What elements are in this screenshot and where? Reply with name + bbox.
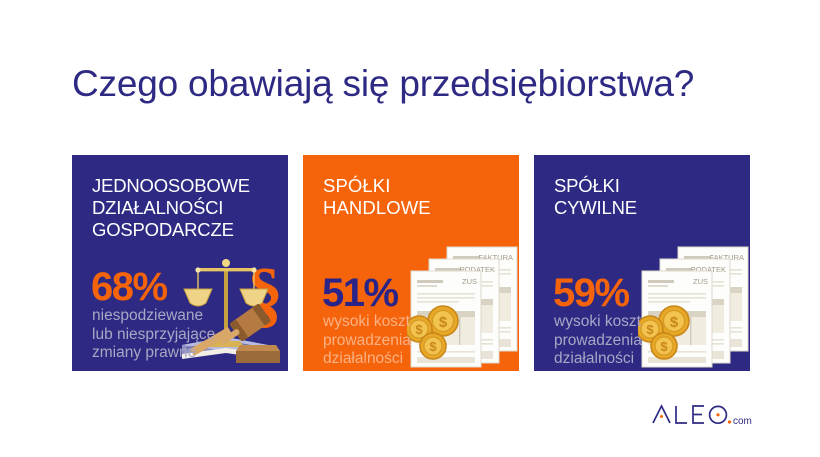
stats-card-row: JEDNOOSOBOWE DZIAŁALNOŚCI GOSPODARCZE 68…	[72, 155, 750, 371]
stat-card-jednoosobowe-dzialalnosci-gospodarcze: JEDNOOSOBOWE DZIAŁALNOŚCI GOSPODARCZE 68…	[72, 155, 288, 371]
logo-dot-period	[728, 420, 731, 423]
card-subtitle: wysoki koszt prowadzenia działalności	[323, 313, 411, 369]
logo-dot-o	[716, 413, 719, 416]
document-label-zus: ZUS	[462, 277, 477, 286]
coin-icon-bottom: $	[420, 333, 446, 359]
card-heading: SPÓŁKI CYWILNE	[554, 175, 637, 219]
svg-text:$: $	[660, 339, 668, 354]
svg-text:$: $	[415, 322, 423, 337]
card-subtitle: wysoki koszt prowadzenia działalności	[554, 313, 642, 369]
documents-coins-illustration: FAKTURA PODATEK	[407, 243, 519, 371]
logo-dot-a	[660, 415, 663, 418]
card-percent-value: 51%	[322, 273, 398, 313]
stat-card-spolki-cywilne: SPÓŁKI CYWILNE 59% wysoki koszt prowadze…	[534, 155, 750, 371]
aleo-logo[interactable]: com	[651, 402, 761, 428]
documents-coins-illustration: FAKTURA PODATEK	[638, 243, 750, 371]
svg-text:$: $	[670, 314, 679, 331]
svg-text:$: $	[646, 322, 654, 337]
svg-text:$: $	[429, 339, 437, 354]
logo-suffix: com	[733, 416, 752, 427]
card-percent-value: 68%	[91, 267, 167, 307]
coin-icon-bottom: $	[651, 333, 677, 359]
card-percent-value: 59%	[553, 273, 629, 313]
card-subtitle: niespodziewane lub niesprzyjające zmiany…	[92, 307, 215, 363]
document-label-zus: ZUS	[693, 277, 708, 286]
stat-card-spolki-handlowe: SPÓŁKI HANDLOWE 51% wysoki koszt prowadz…	[303, 155, 519, 371]
page-title: Czego obawiają się przedsiębiorstwa?	[72, 62, 694, 106]
card-heading: SPÓŁKI HANDLOWE	[323, 175, 431, 219]
svg-text:$: $	[439, 314, 448, 331]
card-heading: JEDNOOSOBOWE DZIAŁALNOŚCI GOSPODARCZE	[92, 175, 250, 241]
